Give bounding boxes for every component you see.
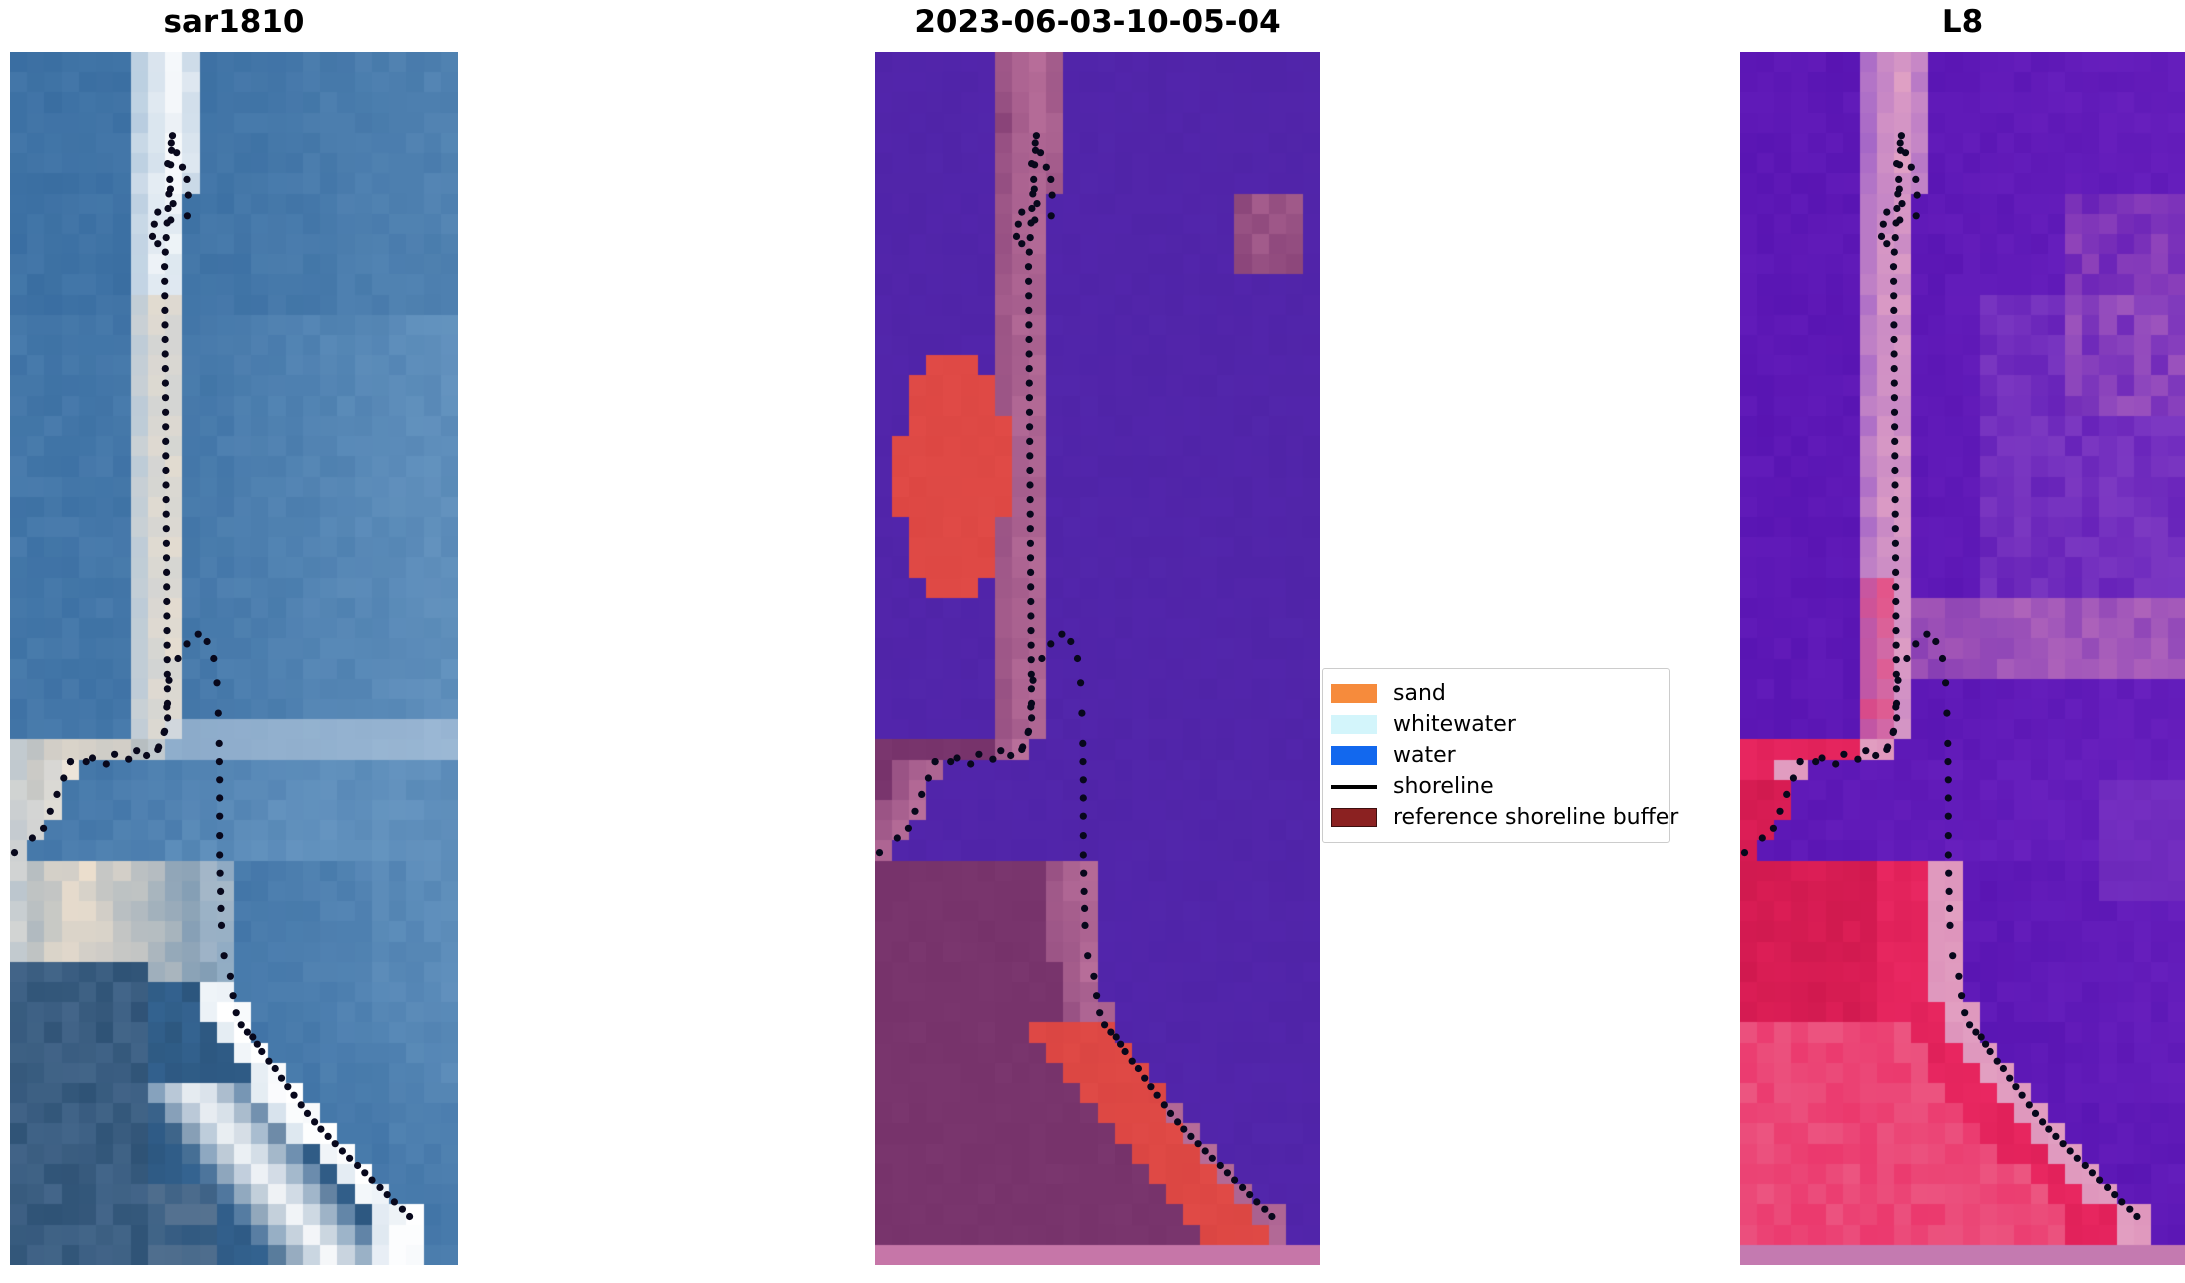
figure-canvas: sar1810 2023-06-03-10-05-04 L8 sand whit… <box>0 0 2185 1283</box>
l8-shoreline-overlay <box>1740 52 2185 1265</box>
panel-title-l8: L8 <box>1740 4 2185 40</box>
panel-title-sar: sar1810 <box>10 4 458 40</box>
legend-label-reference-buffer: reference shoreline buffer <box>1393 807 1678 829</box>
water-swatch-icon <box>1331 746 1377 765</box>
classified-shoreline-overlay <box>875 52 1320 1265</box>
panel-sar[interactable] <box>10 52 458 1265</box>
legend-label-sand: sand <box>1393 683 1446 705</box>
legend-item-water: water <box>1331 740 1659 771</box>
legend-label-whitewater: whitewater <box>1393 714 1516 736</box>
legend-label-water: water <box>1393 745 1456 767</box>
legend-item-sand: sand <box>1331 678 1659 709</box>
sand-swatch-icon <box>1331 684 1377 703</box>
whitewater-swatch-icon <box>1331 715 1377 734</box>
legend-item-shoreline: shoreline <box>1331 771 1659 802</box>
legend-item-reference-buffer: reference shoreline buffer <box>1331 802 1659 833</box>
reference-buffer-swatch-icon <box>1331 808 1377 827</box>
panel-title-classified: 2023-06-03-10-05-04 <box>875 4 1320 40</box>
legend: sand whitewater water shoreline referenc… <box>1322 668 1670 843</box>
legend-item-whitewater: whitewater <box>1331 709 1659 740</box>
panel-l8[interactable] <box>1740 52 2185 1265</box>
legend-label-shoreline: shoreline <box>1393 776 1494 798</box>
sar-shoreline-overlay <box>10 52 458 1265</box>
shoreline-line-icon <box>1331 777 1377 796</box>
panel-classified[interactable] <box>875 52 1320 1265</box>
